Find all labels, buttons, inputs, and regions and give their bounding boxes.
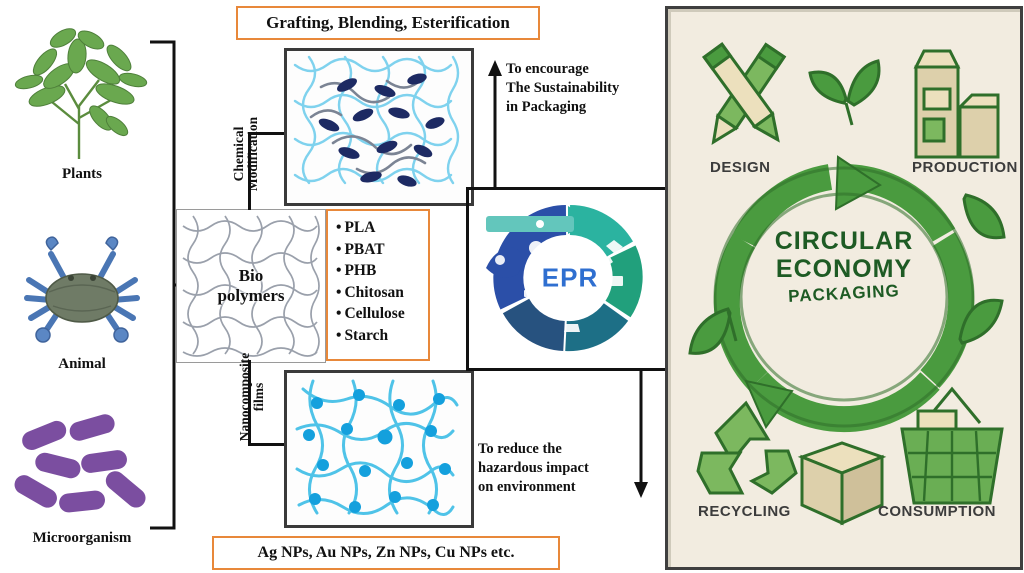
- list-item: Starch: [336, 325, 424, 347]
- outcome-up-text: To encourage The Sustainability in Packa…: [506, 60, 619, 117]
- outcome-down-line1: To reduce the: [478, 441, 562, 457]
- branch-label-chemical-modification: Chemical Modification: [232, 84, 260, 224]
- biopolymer-types-list: PLA PBAT PHB Chitosan Cellulose Starch: [326, 209, 430, 361]
- source-label-plants: Plants: [2, 166, 162, 183]
- branch-label-line2: films: [251, 383, 266, 412]
- figure-canvas: Plants Animal: [0, 0, 1024, 573]
- ce-label-recycling: RECYCLING: [698, 503, 791, 520]
- circular-economy-panel: CIRCULAR ECONOMY PACKAGING DESIGN PRODUC…: [665, 6, 1023, 570]
- panel-nanocomposite-films: [284, 370, 474, 528]
- branch-label-line2: Modification: [245, 117, 260, 191]
- list-item: PHB: [336, 260, 424, 282]
- plant-icon: [7, 14, 157, 164]
- outcome-down-line3: on environment: [478, 479, 576, 495]
- list-item: PBAT: [336, 239, 424, 261]
- ce-label-production: PRODUCTION: [912, 159, 1018, 176]
- epr-wheel: EPR: [480, 198, 660, 358]
- ce-label-consumption: CONSUMPTION: [878, 503, 996, 520]
- biopolymer-label-line1: Bio: [239, 266, 264, 285]
- branch-label-nanocomposite-films: Nanocomposite films: [238, 327, 266, 467]
- outcome-down-line2: hazardous impact: [478, 460, 589, 476]
- tag-label: Grafting, Blending, Esterification: [266, 13, 510, 33]
- ce-line1: CIRCULAR: [668, 227, 1020, 255]
- outcome-up-line3: in Packaging: [506, 99, 586, 115]
- arrow-down-icon: [632, 368, 650, 505]
- source-microorganism: Microorganism: [2, 408, 162, 547]
- source-label-microorganism: Microorganism: [2, 530, 162, 547]
- circular-economy-center-text: CIRCULAR ECONOMY PACKAGING: [668, 227, 1020, 305]
- panel-chemical-modification: [284, 48, 474, 206]
- polymer-network-with-nanoparticles-icon: [287, 373, 471, 525]
- list-item: PLA: [336, 217, 424, 239]
- list-item: Chitosan: [336, 282, 424, 304]
- biopolymer-label: Bio polymers: [177, 266, 325, 306]
- epr-label: EPR: [480, 263, 660, 294]
- tag-grafting-blending-esterification: Grafting, Blending, Esterification: [236, 6, 540, 40]
- tag-label: Ag NPs, Au NPs, Zn NPs, Cu NPs etc.: [258, 544, 515, 562]
- biopolymer-label-line2: polymers: [217, 286, 284, 305]
- outcome-up-line1: To encourage: [506, 61, 589, 77]
- ce-label-design: DESIGN: [710, 159, 771, 176]
- list-item: Cellulose: [336, 303, 424, 325]
- tag-nanoparticles: Ag NPs, Au NPs, Zn NPs, Cu NPs etc.: [212, 536, 560, 570]
- polymer-network-with-fillers-icon: [287, 51, 471, 203]
- source-plants: Plants: [2, 14, 162, 183]
- branch-label-line1: Chemical: [231, 127, 246, 182]
- outcome-down-text: To reduce the hazardous impact on enviro…: [478, 440, 589, 497]
- branch-label-line1: Nanocomposite: [237, 353, 252, 442]
- source-animal: Animal: [2, 236, 162, 373]
- crab-icon: [7, 236, 157, 354]
- source-label-animal: Animal: [2, 356, 162, 373]
- bacteria-icon: [7, 408, 157, 528]
- outcome-up-line2: The Sustainability: [506, 80, 619, 96]
- route-left: [466, 187, 469, 371]
- arrow-up-icon: [486, 58, 504, 195]
